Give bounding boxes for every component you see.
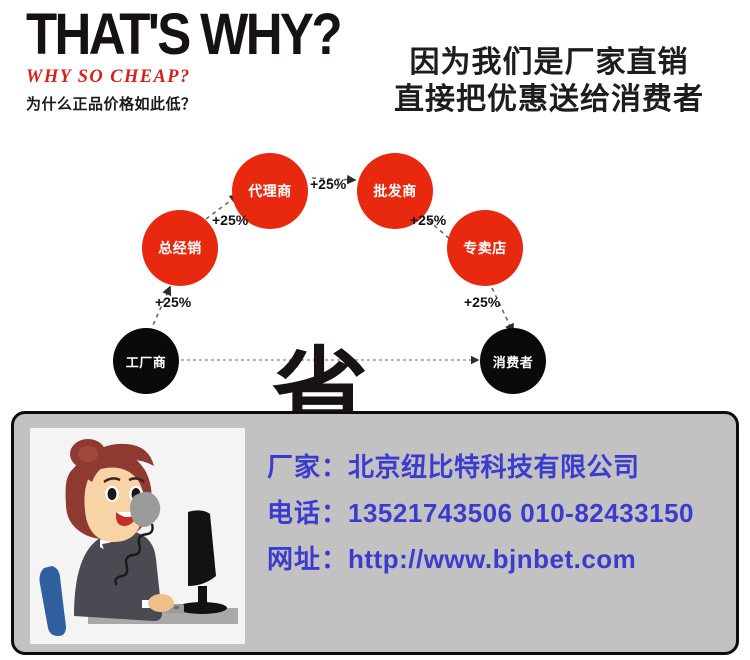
- agent-illustration-svg: [30, 428, 245, 644]
- node-label: 工厂商: [126, 352, 167, 371]
- contact-panel: 厂家：北京纽比特科技有限公司 电话：13521743506 010-824331…: [11, 411, 739, 655]
- node-xiaofeizhe: 消费者: [480, 328, 546, 394]
- contact-details: 厂家：北京纽比特科技有限公司 电话：13521743506 010-824331…: [267, 444, 694, 582]
- website-value[interactable]: http://www.bjnbet.com: [348, 544, 636, 574]
- markup-label-5: +25%: [464, 294, 500, 310]
- headline-right-line1: 因为我们是厂家直销: [352, 44, 746, 81]
- english-title: THAT'S WHY?: [26, 6, 290, 64]
- markup-label-3: +25%: [310, 176, 346, 192]
- contact-row-website: 网址：http://www.bjnbet.com: [267, 536, 694, 582]
- node-zhuanmaidian: 专卖店: [447, 210, 523, 286]
- node-gongchang: 工厂商: [113, 328, 179, 394]
- contact-row-phone: 电话：13521743506 010-82433150: [267, 490, 694, 536]
- phone-value: 13521743506 010-82433150: [348, 498, 694, 528]
- headline-left-block: THAT'S WHY? WHY SO CHEAP? 为什么正品价格如此低？: [26, 6, 326, 114]
- phone-label: 电话：: [267, 498, 348, 528]
- node-label: 总经销: [158, 238, 202, 258]
- markup-label-4: +25%: [410, 212, 446, 228]
- markup-label-1: +25%: [155, 294, 191, 310]
- website-label: 网址：: [267, 544, 348, 574]
- customer-service-illustration: [30, 428, 245, 644]
- headline-right-line2: 直接把优惠送给消费者: [352, 81, 746, 118]
- markup-label-2: +25%: [212, 212, 248, 228]
- manufacturer-label: 厂家：: [267, 452, 348, 482]
- node-zongjingxiao: 总经销: [142, 210, 218, 286]
- promo-banner: THAT'S WHY? WHY SO CHEAP? 为什么正品价格如此低？ 因为…: [0, 0, 750, 660]
- manufacturer-value: 北京纽比特科技有限公司: [348, 452, 640, 482]
- distribution-chain-diagram: 总经销 代理商 批发商 专卖店 工厂商 消费者 +25% +25% +25% +…: [0, 140, 750, 400]
- node-label: 消费者: [493, 352, 534, 371]
- node-label: 批发商: [373, 181, 417, 201]
- node-label: 代理商: [248, 181, 292, 201]
- node-label: 专卖店: [463, 238, 507, 258]
- contact-row-manufacturer: 厂家：北京纽比特科技有限公司: [267, 444, 694, 490]
- english-subtitle: WHY SO CHEAP?: [26, 66, 317, 88]
- chinese-subtitle: 为什么正品价格如此低？: [26, 93, 326, 114]
- headline-right-block: 因为我们是厂家直销 直接把优惠送给消费者: [352, 44, 746, 118]
